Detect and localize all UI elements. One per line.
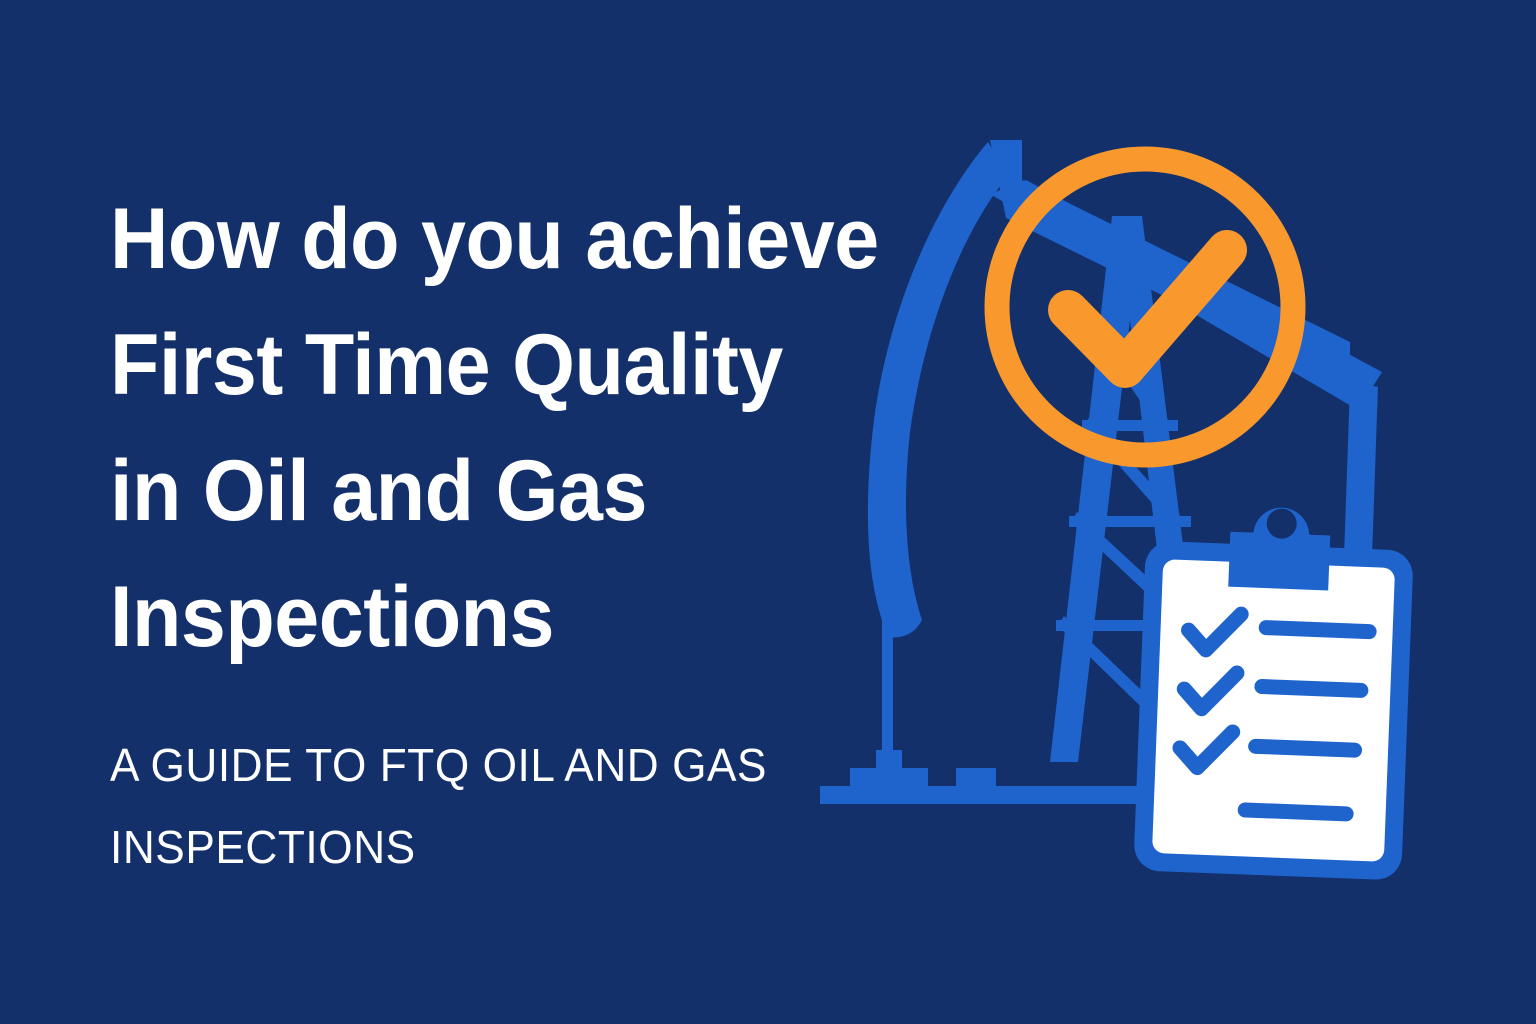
clipboard-clip-plate: [1228, 532, 1330, 591]
page-subtitle: A GUIDE TO FTQ OIL AND GAS INSPECTIONS: [110, 724, 820, 888]
title-card: How do you achieve First Time Quality in…: [0, 0, 1536, 1024]
pumpjack-ground-plate: [820, 786, 1162, 804]
pumpjack-polished-rod: [882, 620, 893, 760]
inspection-clipboard-icon: [1133, 502, 1415, 880]
illustration-group: [790, 120, 1450, 910]
pumpjack-horse-head: [868, 142, 1008, 637]
pumpjack-base-steps-right: [956, 768, 996, 786]
